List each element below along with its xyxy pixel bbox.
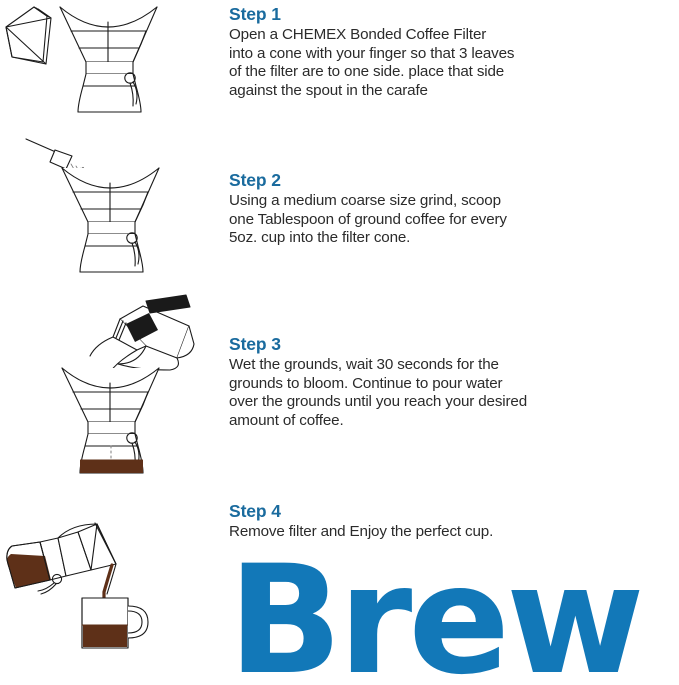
step-3-illustration: [0, 282, 220, 482]
chemex-carafe-icon: [62, 368, 159, 473]
chemex-carafe-icon: [62, 168, 159, 272]
step-4-title: Step 4: [229, 501, 669, 521]
gooseneck-kettle-icon: [90, 295, 194, 372]
chemex-carafe-icon: [60, 7, 157, 112]
step-1-illustration: [0, 0, 220, 120]
brew-instructions-page: Step 1 Open a CHEMEX Bonded Coffee Filte…: [0, 0, 679, 685]
step-1-text-block: Step 1 Open a CHEMEX Bonded Coffee Filte…: [229, 4, 669, 101]
step-1-body: Open a CHEMEX Bonded Coffee Filter into …: [229, 26, 669, 100]
step-2-body: Using a medium coarse size grind, scoop …: [229, 192, 669, 248]
step-2-illustration: [0, 120, 220, 280]
step-3-text-block: Step 3 Wet the grounds, wait 30 seconds …: [229, 334, 669, 431]
brew-headline: Brew: [228, 546, 641, 685]
step-2-title: Step 2: [229, 170, 669, 190]
step-3-title: Step 3: [229, 334, 669, 354]
step-2-text-block: Step 2 Using a medium coarse size grind,…: [229, 170, 669, 248]
coffee-scoop-icon: [26, 139, 72, 169]
coffee-mug-icon: [82, 598, 148, 648]
step-1-title: Step 1: [229, 4, 669, 24]
step-4-illustration: [0, 498, 220, 683]
step-3-body: Wet the grounds, wait 30 seconds for the…: [229, 356, 669, 430]
folded-filter-icon: [6, 7, 51, 64]
